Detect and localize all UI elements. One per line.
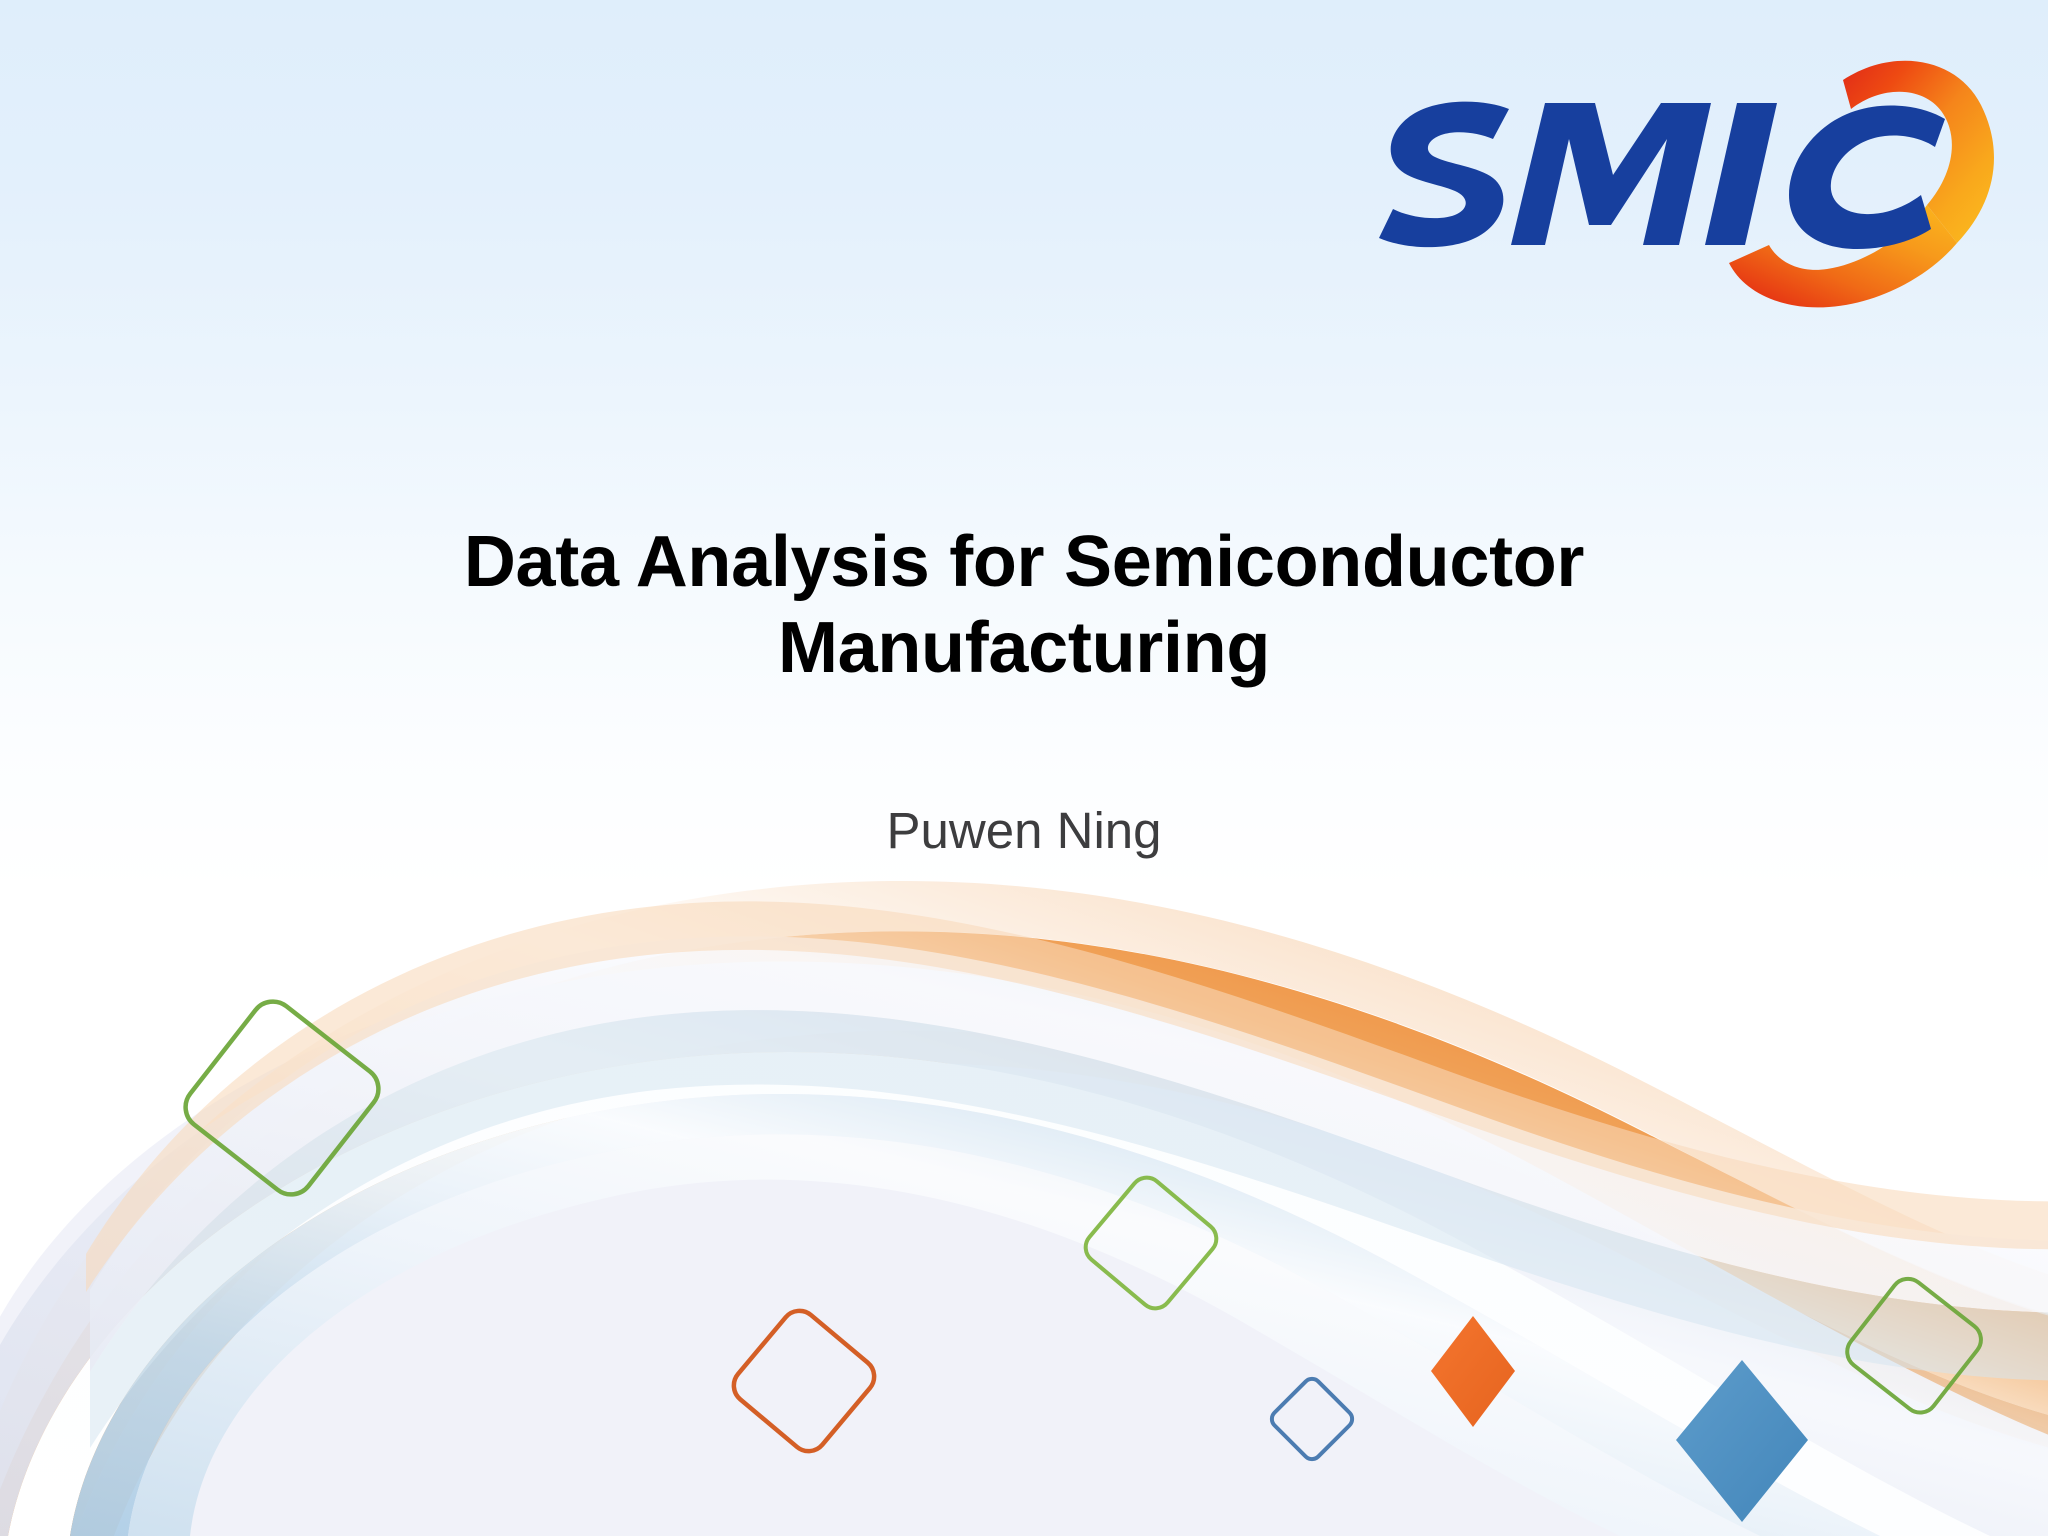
smic-logo — [1345, 35, 2035, 320]
ribbon-lavender-back — [0, 952, 2048, 1536]
ribbon-lavender-cross — [90, 936, 2048, 1372]
author-name: Puwen Ning — [124, 800, 1924, 861]
title-container: Data Analysis for Semiconductor Manufact… — [124, 520, 1924, 691]
ribbon-blue-cross — [90, 1010, 2048, 1448]
title-slide: Data Analysis for Semiconductor Manufact… — [0, 0, 2048, 1536]
ribbon-orange-edge — [46, 1031, 2048, 1536]
logo-wordmark — [1379, 102, 1945, 249]
page-title: Data Analysis for Semiconductor Manufact… — [124, 520, 1924, 691]
ribbon-orange — [0, 931, 2048, 1536]
green-outline-diamond-left-icon — [177, 993, 388, 1204]
blue-outline-diamond-icon — [1268, 1375, 1356, 1463]
green-outline-diamond-center-icon — [1079, 1171, 1223, 1315]
orange-outline-diamond-icon — [727, 1304, 882, 1459]
ribbon-blue — [70, 1094, 1880, 1536]
blue-filled-diamond-icon — [1676, 1360, 1808, 1522]
ribbon-white-band — [8, 1052, 1990, 1536]
subtitle-container: Puwen Ning — [124, 800, 1924, 861]
ribbon-orange-highlight — [0, 881, 2048, 1536]
ribbon-orange-wisp — [86, 901, 2048, 1292]
orange-filled-diamond-icon — [1431, 1316, 1515, 1427]
ribbon-blue-lower — [128, 1134, 1760, 1536]
green-outline-diamond-right-icon — [1840, 1272, 1987, 1419]
ribbon-lavender-mid — [0, 961, 2048, 1536]
